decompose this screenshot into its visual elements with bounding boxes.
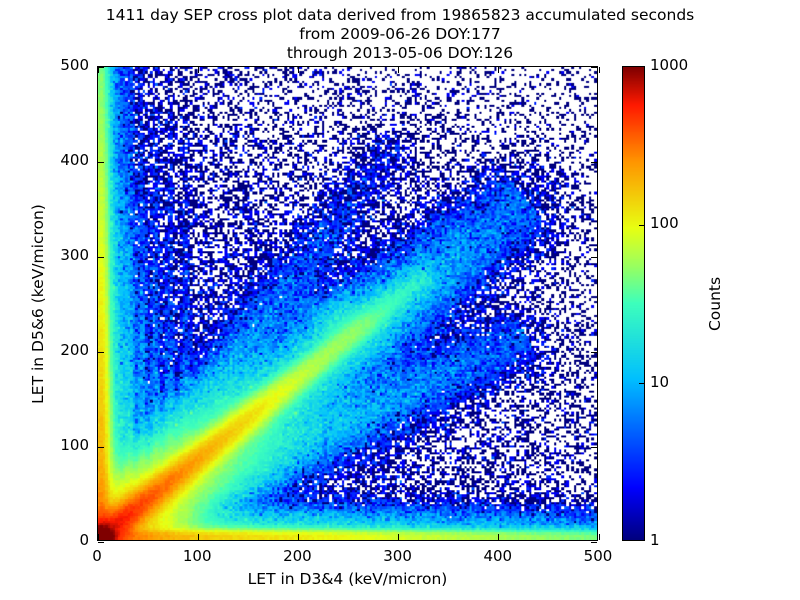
y-tick-label: 200: [29, 341, 89, 359]
y-axis-tick: [591, 352, 597, 353]
y-axis-tick: [98, 542, 104, 543]
y-tick-label: 400: [29, 151, 89, 169]
colorbar-tick: [639, 225, 644, 226]
x-axis-tick: [298, 67, 299, 73]
scatter-density-plot: [98, 67, 597, 540]
x-tick-label: 500: [563, 547, 633, 565]
colorbar-gradient: [623, 67, 644, 540]
y-tick-label: 300: [29, 246, 89, 264]
x-axis-tick: [198, 534, 199, 540]
y-axis-tick: [98, 352, 104, 353]
colorbar-tick-label: 1000: [650, 56, 688, 74]
colorbar-tick-label: 100: [650, 214, 679, 232]
y-axis-tick: [591, 162, 597, 163]
y-tick-label: 100: [29, 436, 89, 454]
y-axis-tick: [98, 67, 104, 68]
colorbar-title: Counts: [706, 276, 724, 330]
x-axis-tick: [498, 534, 499, 540]
y-axis-title: LET in D5&6 (keV/micron): [29, 204, 47, 404]
colorbar-tick: [639, 383, 644, 384]
y-axis-tick: [591, 447, 597, 448]
x-axis-tick: [98, 67, 99, 73]
y-axis-tick: [98, 257, 104, 258]
x-axis-tick: [398, 534, 399, 540]
y-tick-label: 0: [29, 531, 89, 549]
x-axis-tick: [599, 67, 600, 73]
x-axis-title: LET in D3&4 (keV/micron): [97, 570, 598, 588]
figure-title: 1411 day SEP cross plot data derived fro…: [0, 6, 800, 63]
title-line-2: from 2009-06-26 DOY:177: [0, 25, 800, 44]
y-axis-tick: [591, 67, 597, 68]
title-line-1: 1411 day SEP cross plot data derived fro…: [0, 6, 800, 25]
x-axis-tick: [298, 534, 299, 540]
x-axis-tick: [198, 67, 199, 73]
y-tick-label: 500: [29, 56, 89, 74]
x-axis-tick: [498, 67, 499, 73]
colorbar-tick-label: 1: [650, 531, 660, 549]
y-axis-tick: [98, 447, 104, 448]
plot-area: [97, 66, 598, 541]
y-axis-tick: [591, 257, 597, 258]
x-axis-tick: [599, 534, 600, 540]
x-tick-label: 400: [463, 547, 533, 565]
y-axis-tick: [98, 162, 104, 163]
x-tick-label: 300: [363, 547, 433, 565]
colorbar: [622, 66, 645, 541]
x-tick-label: 100: [162, 547, 232, 565]
x-axis-tick: [98, 534, 99, 540]
x-tick-label: 200: [262, 547, 332, 565]
y-axis-tick: [591, 542, 597, 543]
x-axis-tick: [398, 67, 399, 73]
x-tick-label: 0: [62, 547, 132, 565]
figure-canvas: 1411 day SEP cross plot data derived fro…: [0, 0, 800, 600]
colorbar-tick-label: 10: [650, 373, 669, 391]
